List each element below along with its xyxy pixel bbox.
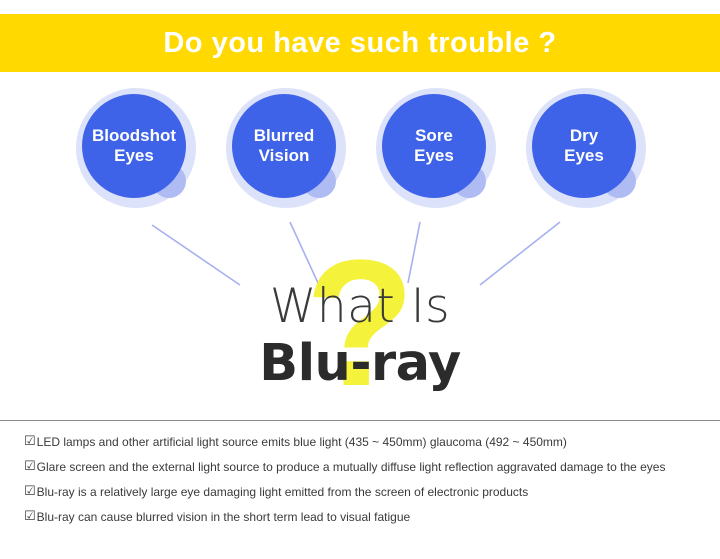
note-text: Glare screen and the external light sour… bbox=[37, 455, 666, 479]
list-item: ☑ Blu-ray is a relatively large eye dama… bbox=[24, 480, 704, 504]
bubble-label: Dry Eyes bbox=[564, 126, 604, 166]
header-banner: Do you have such trouble ? bbox=[0, 14, 720, 72]
list-item: ☑ LED lamps and other artificial light s… bbox=[24, 430, 704, 454]
symptom-bubble-blurred-vision: Blurred Vision bbox=[226, 88, 346, 208]
bubble-label: Sore Eyes bbox=[414, 126, 454, 166]
checked-box-icon: ☑ bbox=[24, 430, 36, 454]
symptom-bubble-dry-eyes: Dry Eyes bbox=[526, 88, 646, 208]
bubble-label: Blurred Vision bbox=[254, 126, 314, 166]
checked-box-icon: ☑ bbox=[24, 455, 36, 479]
checked-box-icon: ☑ bbox=[24, 505, 36, 529]
symptom-bubble-sore-eyes: Sore Eyes bbox=[376, 88, 496, 208]
note-text: Blu-ray can cause blurred vision in the … bbox=[37, 505, 411, 529]
note-text: Blu-ray is a relatively large eye damagi… bbox=[37, 480, 529, 504]
bubble-disc: Sore Eyes bbox=[382, 94, 486, 198]
bubble-disc: Dry Eyes bbox=[532, 94, 636, 198]
notes-list: ☑ LED lamps and other artificial light s… bbox=[24, 430, 704, 530]
bubble-disc: Bloodshot Eyes bbox=[82, 94, 186, 198]
center-headline-block: ? What Is Blu-ray bbox=[0, 250, 720, 400]
list-item: ☑ Blu-ray can cause blurred vision in th… bbox=[24, 505, 704, 529]
bubble-disc: Blurred Vision bbox=[232, 94, 336, 198]
headline-line-1: What Is bbox=[0, 283, 720, 330]
banner-title: Do you have such trouble ? bbox=[163, 27, 556, 60]
symptom-bubble-bloodshot-eyes: Bloodshot Eyes bbox=[76, 88, 196, 208]
horizontal-divider bbox=[0, 420, 720, 421]
infographic-page: Do you have such trouble ? Bloodshot Eye… bbox=[0, 0, 720, 559]
headline-line-2: Blu-ray bbox=[0, 338, 720, 389]
bubble-label: Bloodshot Eyes bbox=[92, 126, 176, 166]
symptom-bubble-group: Bloodshot Eyes Blurred Vision Sore Eyes … bbox=[0, 88, 720, 213]
list-item: ☑ Glare screen and the external light so… bbox=[24, 455, 704, 479]
checked-box-icon: ☑ bbox=[24, 480, 36, 504]
note-text: LED lamps and other artificial light sou… bbox=[37, 430, 567, 454]
